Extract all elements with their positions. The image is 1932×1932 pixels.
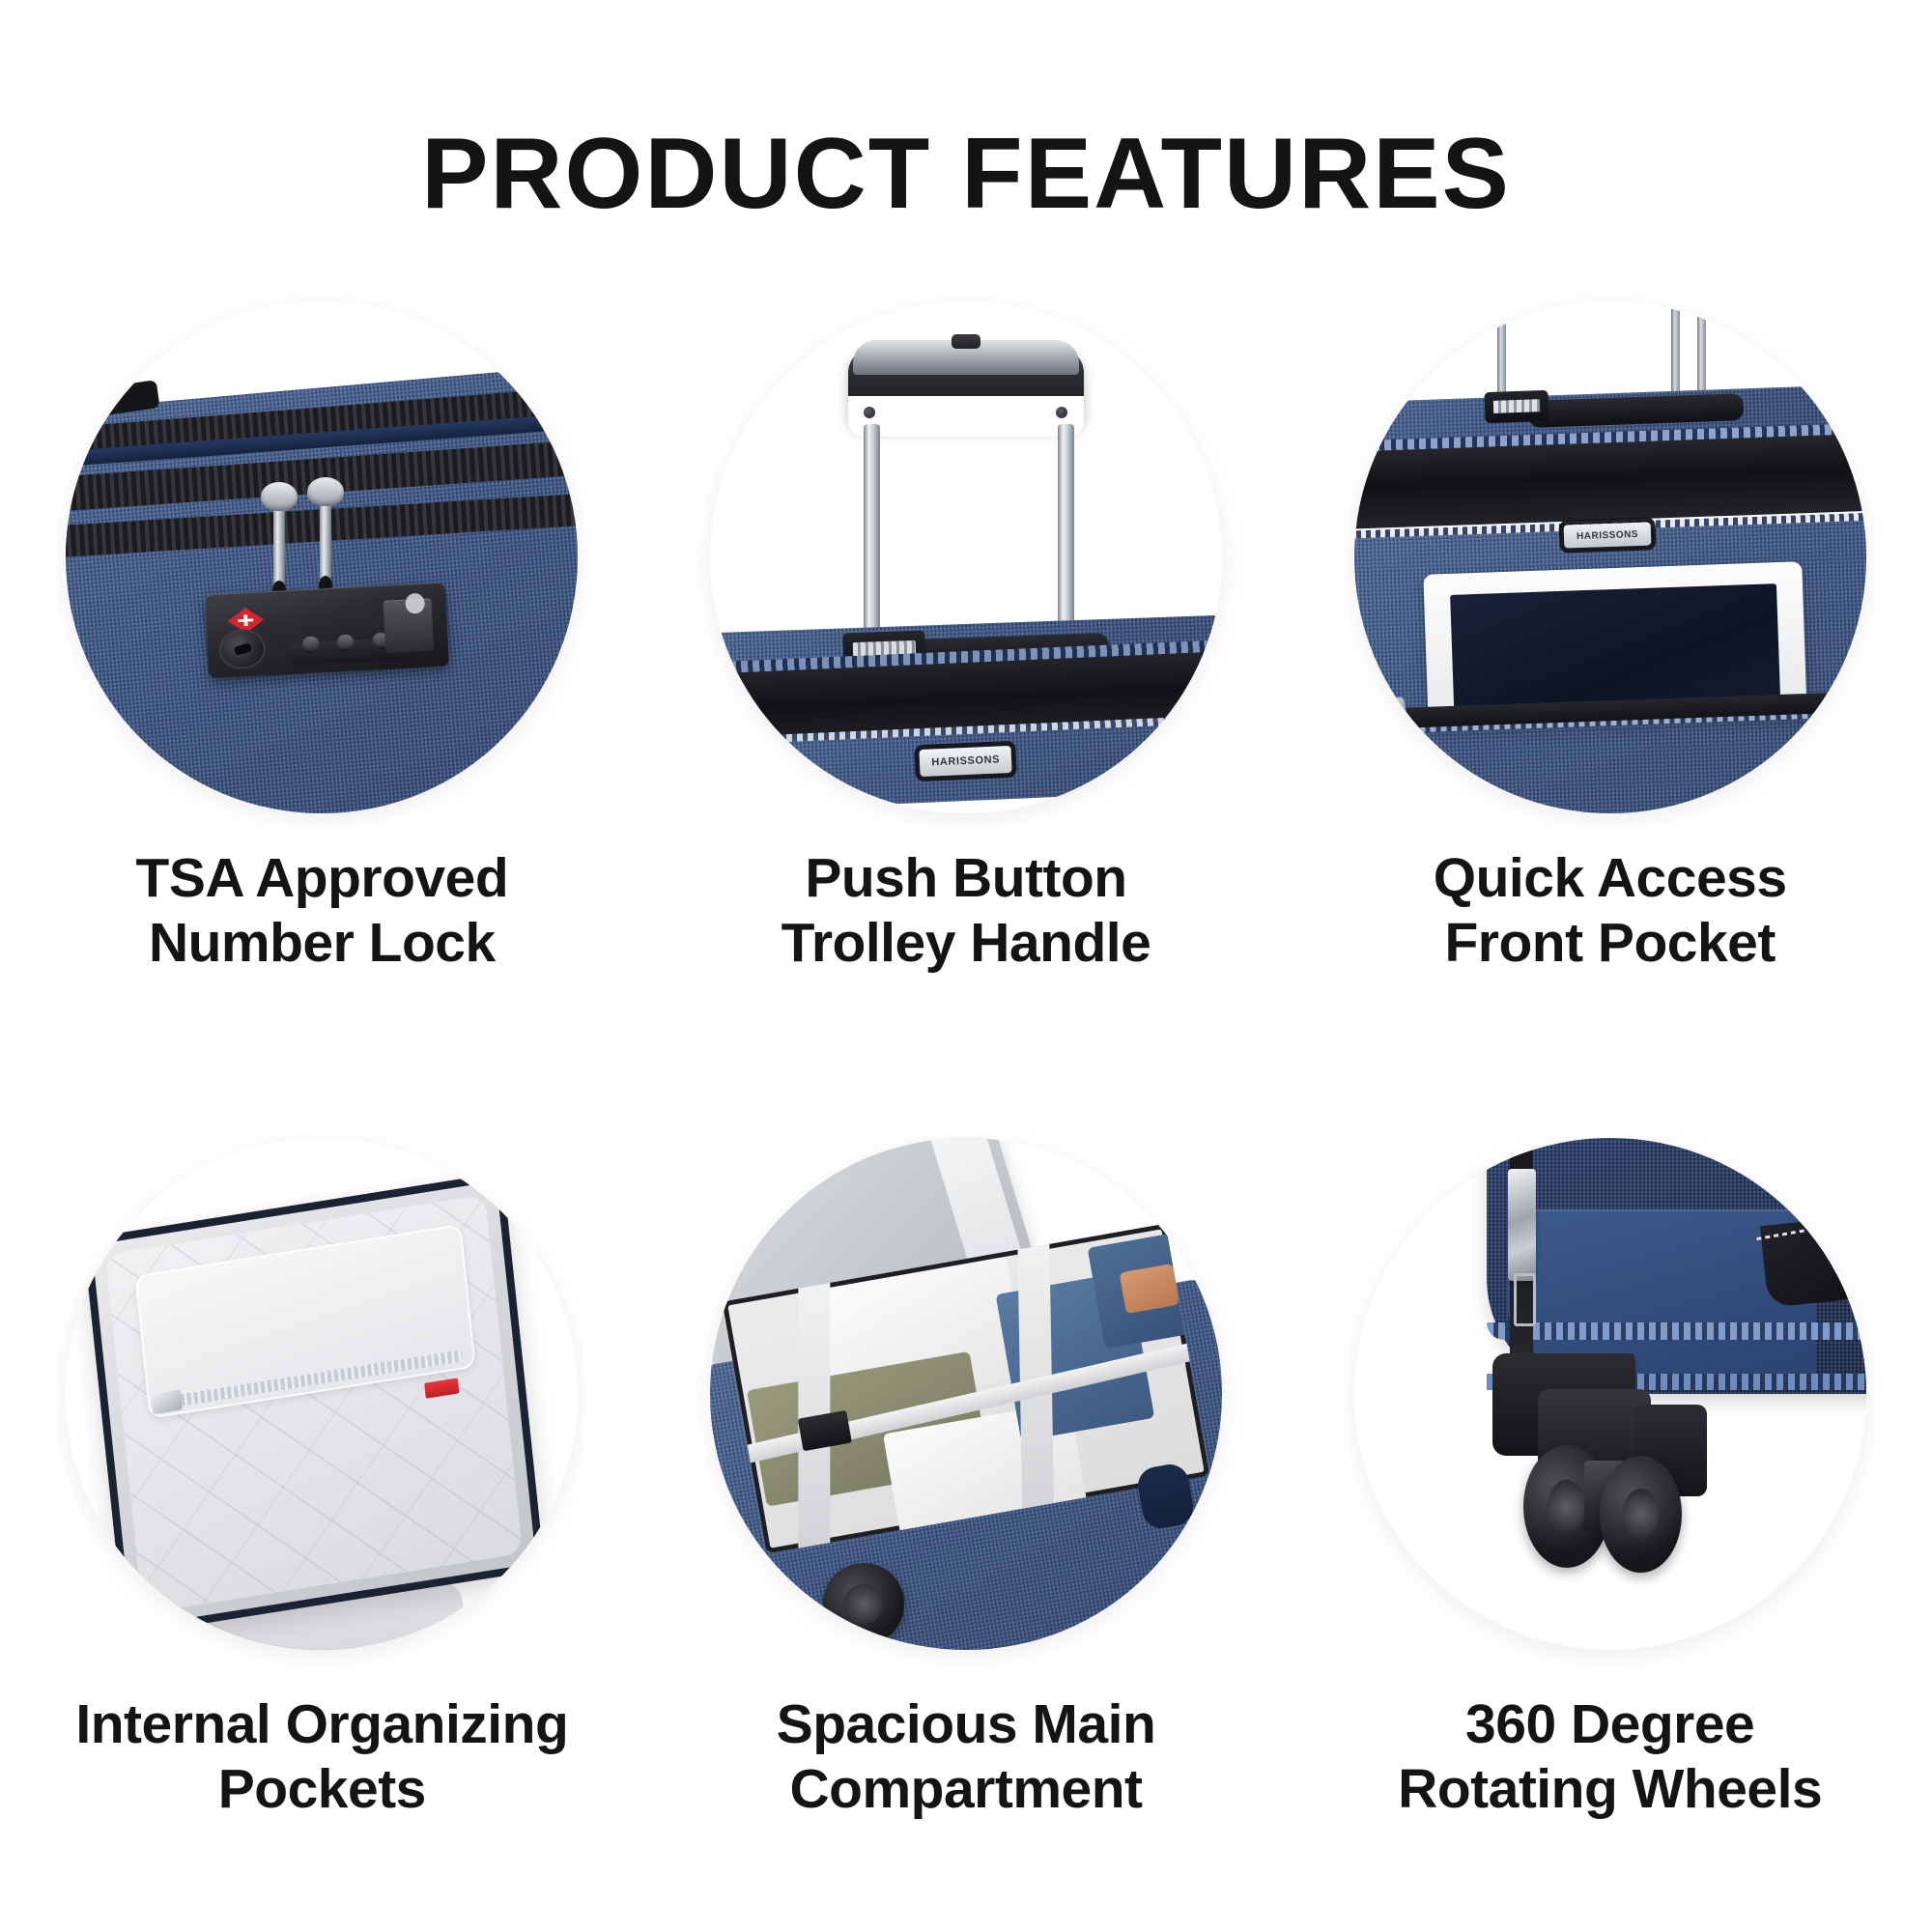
caption-line-2: Number Lock [136,911,509,976]
feature-trolley-handle: HARISSONS Push Button Trolley Handle [644,290,1289,1111]
black-corner-patch [1760,1214,1866,1308]
feature-tsa-lock: TSA Approved Number Lock [0,290,644,1111]
features-grid: TSA Approved Number Lock [0,290,1932,1932]
caption-line-2: Trolley Handle [781,911,1151,976]
caption-line-2: Compartment [777,1757,1156,1822]
feature-image-main-compartment [710,1138,1222,1650]
tsa-number-lock [205,582,449,678]
spinner-wheel [823,1563,905,1645]
handle-screw-left [864,407,875,418]
feature-caption-tsa-lock: TSA Approved Number Lock [136,846,509,977]
feature-image-tsa-lock [66,301,578,813]
zipper-pull-right [320,497,331,582]
brand-badge: HARISSONS [920,746,1013,777]
caption-line-1: Quick Access [1434,847,1787,909]
spinner-wheel-right [1600,1456,1682,1574]
caption-line-1: Internal Organizing [75,1693,568,1755]
handle-grip-opening [848,396,1084,437]
product-features-page: PRODUCT FEATURES [0,0,1932,1932]
lock-digit-1 [302,636,320,653]
feature-image-trolley-handle: HARISSONS [710,301,1222,813]
feature-image-wrap-internal-pockets [66,1138,578,1650]
feature-caption-rotating-wheels: 360 Degree Rotating Wheels [1398,1692,1822,1823]
feature-image-rotating-wheels [1354,1138,1866,1650]
caption-line-1: TSA Approved [136,847,509,909]
lock-digit-2 [337,635,355,652]
feature-image-front-pocket: HARISSONS [1354,301,1866,813]
feature-front-pocket: HARISSONS Quick Access Front Pocket [1288,290,1932,1111]
caption-line-1: 360 Degree [1465,1693,1754,1755]
feature-image-wrap-rotating-wheels [1354,1138,1866,1650]
handle-socket [1484,390,1548,423]
feature-rotating-wheels: 360 Degree Rotating Wheels [1288,1111,1932,1932]
piping-trim-upper [1487,1322,1865,1340]
feature-caption-front-pocket: Quick Access Front Pocket [1434,846,1787,977]
lid-lining [105,1194,524,1613]
feature-internal-pockets: Internal Organizing Pockets [0,1111,644,1932]
feature-image-wrap-main-compartment [710,1138,1222,1650]
feature-image-wrap-trolley-handle: HARISSONS [710,301,1222,813]
zipper-pull-left [273,501,285,586]
caption-line-2: Pockets [75,1757,568,1822]
feature-image-internal-pockets [66,1138,578,1650]
lock-release-dial [218,629,266,670]
caption-line-1: Push Button [805,847,1126,909]
feature-caption-trolley-handle: Push Button Trolley Handle [781,846,1151,977]
handle-screw-right [1056,407,1067,418]
caption-line-1: Spacious Main [777,1693,1156,1755]
feature-main-compartment: Spacious Main Compartment [644,1111,1289,1932]
telescopic-rod-right [1058,424,1074,634]
feature-image-wrap-tsa-lock [66,301,578,813]
caption-line-2: Front Pocket [1434,911,1787,976]
zipper-pull [1508,1169,1537,1282]
suitcase-lid [83,1172,545,1636]
brand-badge: HARISSONS [1564,522,1652,549]
feature-caption-internal-pockets: Internal Organizing Pockets [75,1692,568,1823]
page-title: PRODUCT FEATURES [0,124,1932,224]
feature-image-wrap-front-pocket: HARISSONS [1354,301,1866,813]
feature-caption-main-compartment: Spacious Main Compartment [777,1692,1156,1823]
telescopic-rod-left [864,424,880,634]
caption-line-2: Rotating Wheels [1398,1757,1822,1822]
